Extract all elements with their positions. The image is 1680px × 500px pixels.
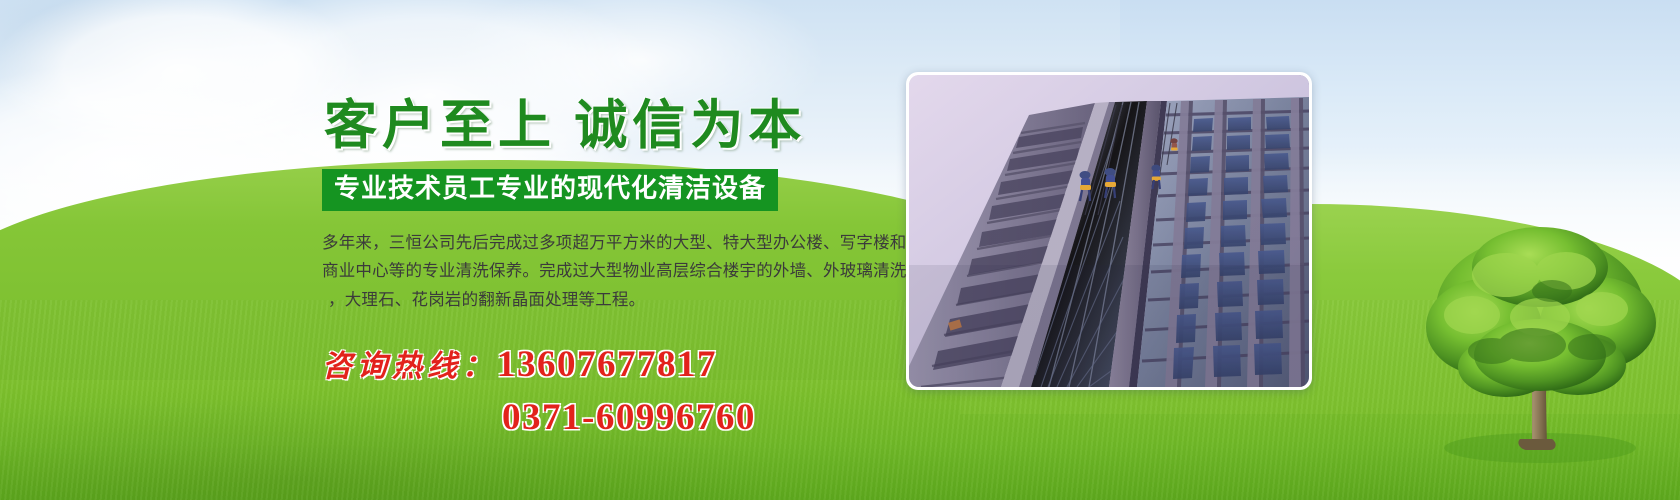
building-photo-frame xyxy=(906,72,1312,390)
body-description: 多年来，三恒公司先后完成过多项超万平方米的大型、特大型办公楼、写字楼和 商业中心… xyxy=(322,229,882,316)
page-title: 客户至上 诚信为本 xyxy=(324,98,922,155)
hotline-label: 咨询热线： xyxy=(322,341,497,385)
contact-phone-block: 咨询热线： 13607677817 0371-60996760 xyxy=(322,341,922,439)
hotline-row: 咨询热线： 13607677817 xyxy=(322,341,922,386)
landline-row: 0371-60996760 xyxy=(322,396,922,439)
body-line-3: ，大理石、花岗岩的翻新晶面处理等工程。 xyxy=(322,286,882,315)
subtitle-badge: 专业技术员工专业的现代化清洁设备 xyxy=(322,169,778,210)
body-line-1: 多年来，三恒公司先后完成过多项超万平方米的大型、特大型办公楼、写字楼和 xyxy=(322,229,882,258)
banner-text-content: 客户至上 诚信为本 专业技术员工专业的现代化清洁设备 多年来，三恒公司先后完成过… xyxy=(322,98,922,439)
tree-illustration xyxy=(1400,205,1680,465)
building-photo xyxy=(909,75,1309,387)
hotline-landline-number[interactable]: 0371-60996760 xyxy=(502,396,756,439)
hotline-mobile-number[interactable]: 13607677817 xyxy=(497,343,717,386)
promotional-banner: 客户至上 诚信为本 专业技术员工专业的现代化清洁设备 多年来，三恒公司先后完成过… xyxy=(0,0,1680,500)
body-line-2: 商业中心等的专业清洗保养。完成过大型物业高层综合楼宇的外墙、外玻璃清洗 xyxy=(322,257,882,286)
